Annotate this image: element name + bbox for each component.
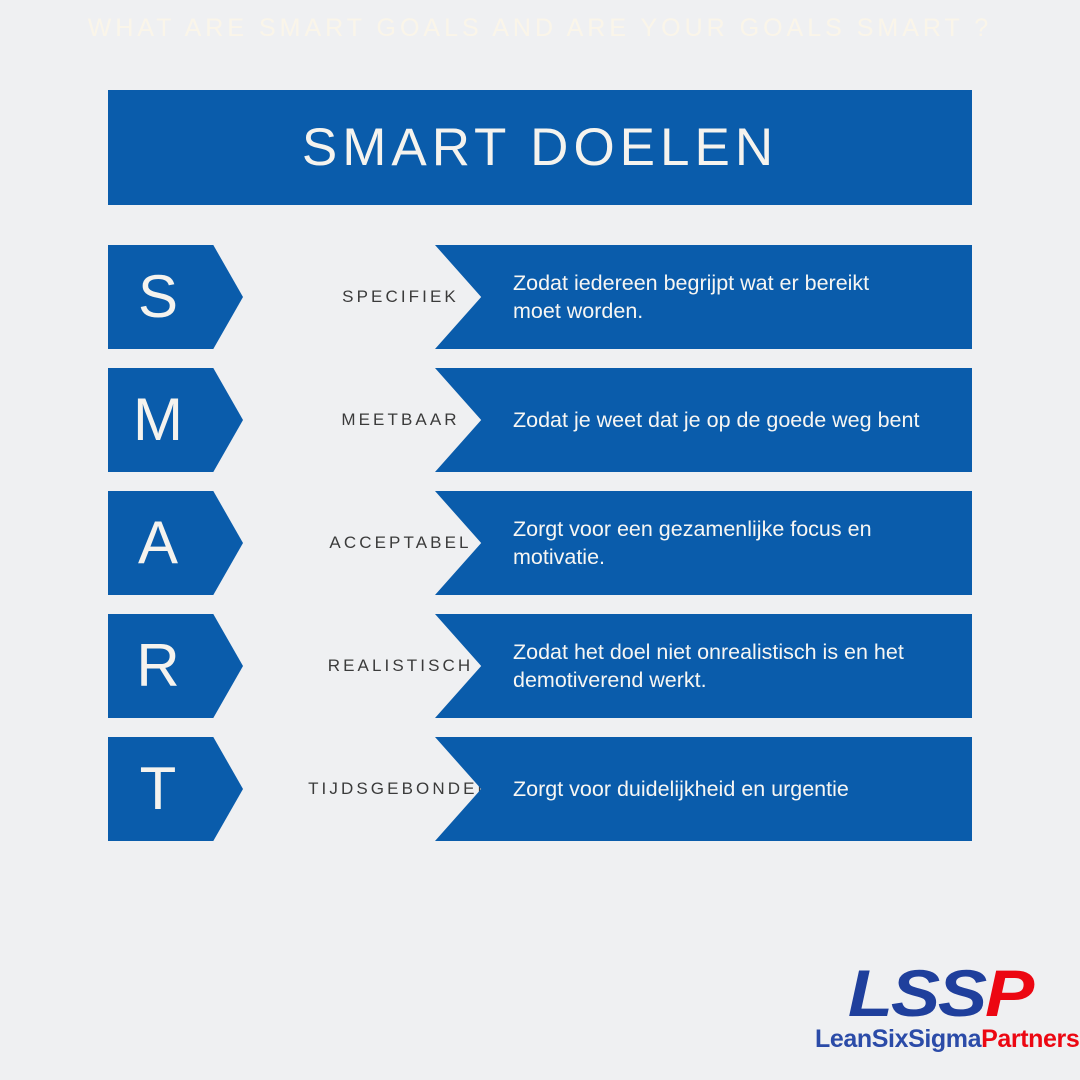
description-ribbon-realistisch: Zodat het doel niet onrealistisch is en …: [435, 614, 972, 718]
letter-chevron-s: S: [108, 245, 243, 349]
logo-mark-p: P: [985, 956, 1032, 1030]
letter-glyph: M: [108, 390, 204, 450]
letter-glyph: S: [108, 267, 204, 327]
page-title: SMART DOELEN: [302, 121, 778, 174]
smart-row-meetbaar: M MEETBAAR Zodat je weet dat je op de go…: [108, 368, 972, 472]
description-ribbon-acceptabel: Zorgt voor een gezamenlijke focus en mot…: [435, 491, 972, 595]
smart-row-tijdsgebonden: T TIJDSGEBONDEN Zorgt voor duidelijkheid…: [108, 737, 972, 841]
smart-row-specifiek: S SPECIFIEK Zodat iedereen begrijpt wat …: [108, 245, 972, 349]
logo-wordmark: LSSP: [800, 960, 1080, 1026]
title-banner: SMART DOELEN: [108, 90, 972, 205]
infographic-canvas: WHAT ARE SMART GOALS AND ARE YOUR GOALS …: [0, 0, 1080, 1080]
description-text: Zodat iedereen begrijpt wat er bereikt m…: [435, 269, 972, 326]
letter-chevron-t: T: [108, 737, 243, 841]
logo-mark-lss: LSS: [848, 956, 985, 1030]
description-ribbon-meetbaar: Zodat je weet dat je op de goede weg ben…: [435, 368, 972, 472]
watermark-heading: WHAT ARE SMART GOALS AND ARE YOUR GOALS …: [0, 14, 1080, 43]
logo-tagline: LeanSixSigmaPartners: [815, 1027, 1065, 1052]
letter-chevron-a: A: [108, 491, 243, 595]
description-ribbon-specifiek: Zodat iedereen begrijpt wat er bereikt m…: [435, 245, 972, 349]
letter-glyph: T: [108, 759, 204, 819]
description-text: Zodat je weet dat je op de goede weg ben…: [435, 406, 971, 434]
description-text: Zorgt voor een gezamenlijke focus en mot…: [435, 515, 972, 572]
letter-glyph: A: [108, 513, 204, 573]
smart-row-acceptabel: A ACCEPTABEL Zorgt voor een gezamenlijke…: [108, 491, 972, 595]
letter-glyph: R: [108, 636, 204, 696]
smart-row-realistisch: R REALISTISCH Zodat het doel niet onreal…: [108, 614, 972, 718]
description-text: Zorgt voor duidelijkheid en urgentie: [435, 775, 901, 803]
description-ribbon-tijdsgebonden: Zorgt voor duidelijkheid en urgentie: [435, 737, 972, 841]
letter-chevron-m: M: [108, 368, 243, 472]
lssp-logo: LSSP LeanSixSigmaPartners: [815, 960, 1065, 1052]
letter-chevron-r: R: [108, 614, 243, 718]
description-text: Zodat het doel niet onrealistisch is en …: [435, 638, 972, 695]
